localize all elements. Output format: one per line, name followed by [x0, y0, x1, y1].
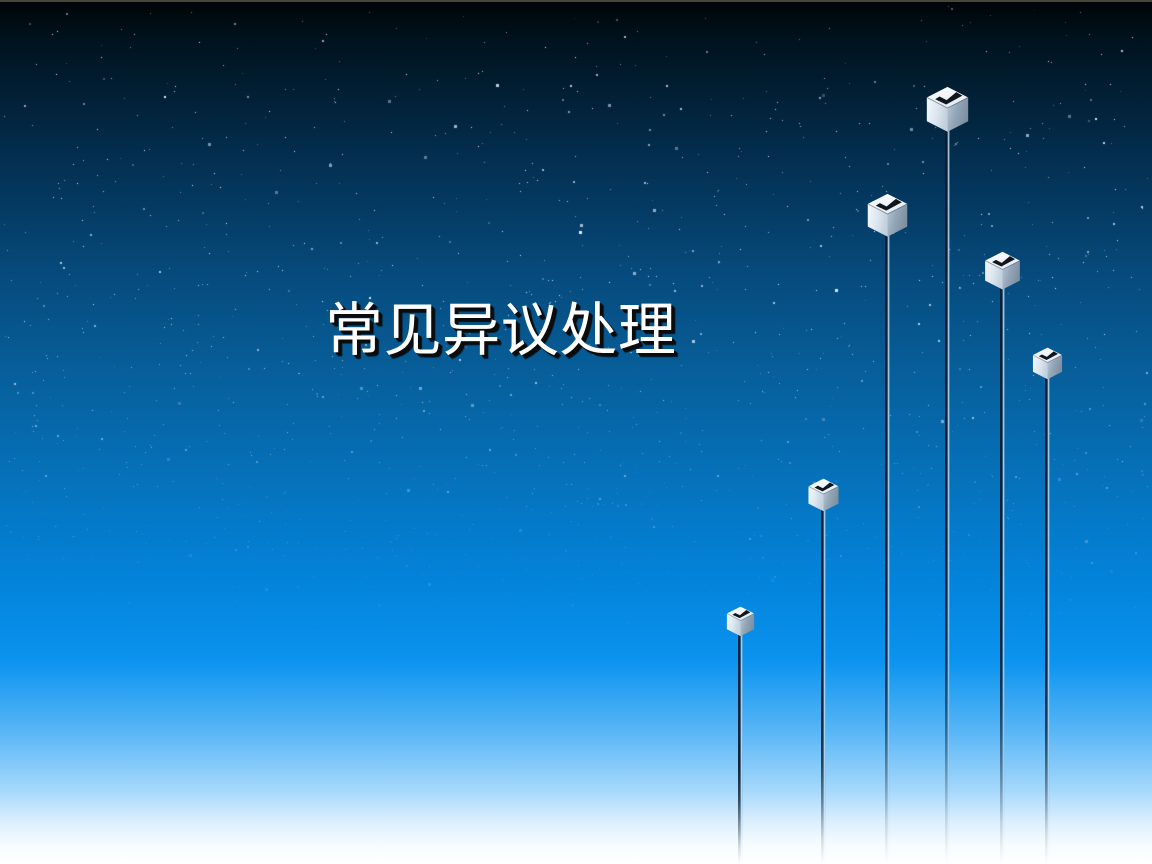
presentation-slide: 常见异议处理 [0, 0, 1152, 864]
slide-title: 常见异议处理 [325, 283, 676, 367]
signpost-pole [1000, 283, 1005, 864]
signpost-cube-icon [984, 251, 1021, 291]
slide-top-edge-line [0, 0, 1152, 2]
signpost-pole [821, 506, 826, 864]
signpost-cube-icon [925, 86, 969, 134]
signpost-pole [738, 631, 743, 864]
signpost [1002, 0, 1003, 864]
signpost [887, 0, 888, 864]
signpost-cube-icon [726, 606, 755, 637]
signpost [823, 0, 824, 864]
background-gradient [0, 0, 1152, 864]
signpost-cube-icon [807, 478, 839, 513]
signpost-cube-icon [1032, 347, 1063, 380]
signpost-pole [1045, 374, 1050, 864]
signpost-pole [945, 124, 950, 864]
signpost-cube-icon [866, 193, 908, 238]
signpost-pole [885, 229, 890, 864]
signpost [1047, 0, 1048, 864]
signpost [740, 0, 741, 864]
signpost [947, 0, 948, 864]
